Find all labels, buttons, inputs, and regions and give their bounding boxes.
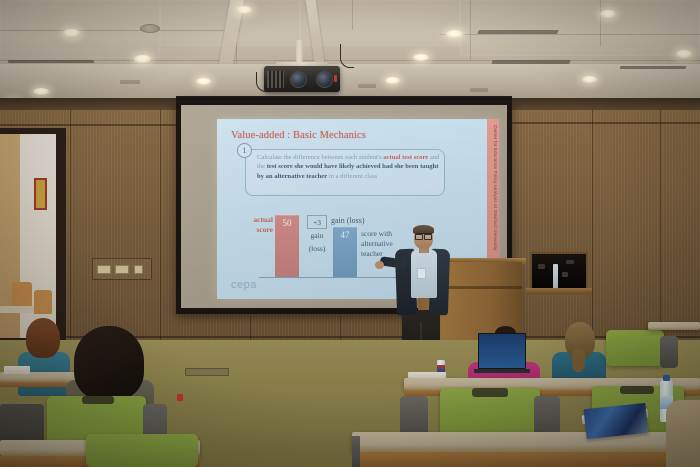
av-equipment-niche (530, 252, 588, 290)
downlight (582, 76, 597, 83)
callout-emphasis-bold-2: an alternative teacher (266, 173, 328, 180)
downlight (446, 30, 463, 38)
chair-green-foreground[interactable] (86, 434, 198, 467)
projector-vent-grille (267, 71, 284, 88)
alt-line1: score with (361, 229, 392, 238)
bar-value-alternative: 47 (333, 230, 357, 240)
downlight (385, 77, 400, 84)
ceiling-vent-left (8, 60, 95, 63)
attendee-foreground-body (666, 400, 700, 467)
projector (264, 66, 340, 92)
chair-backrest-notch (82, 396, 114, 404)
wall-panel-seam (592, 110, 593, 342)
chair-backrest-notch (620, 386, 654, 394)
light-switch[interactable] (97, 265, 111, 274)
callout-line-1: Calculate the difference between each st… (257, 154, 382, 161)
callout-tail: in a different class (327, 173, 377, 180)
alt-line2: alternative (361, 239, 393, 248)
slide-sidebar-text: Center for Education Policy Analysis at … (488, 125, 498, 275)
desk-far-right (648, 322, 700, 330)
wall-panel-seam (250, 316, 251, 342)
gain-label: gain (loss) (331, 216, 365, 225)
ceiling-vent (491, 60, 570, 64)
lecture-hall-photo: Value-added : Basic Mechanics 1 Calculat… (0, 0, 700, 467)
framed-artwork (34, 178, 47, 210)
ceiling (0, 0, 700, 104)
alt-line3: teacher (361, 249, 383, 258)
ceiling-air-diffuser (358, 84, 376, 88)
chair-green-right-back[interactable] (606, 330, 664, 366)
desk-foreground (352, 432, 700, 452)
light-switch[interactable] (115, 265, 129, 274)
downlight (63, 29, 80, 37)
slide-title: Value-added : Basic Mechanics (231, 130, 366, 141)
ceiling-vent (620, 66, 687, 69)
downlight (413, 54, 429, 61)
papers-right[interactable] (408, 372, 446, 378)
downlight (236, 6, 252, 14)
bar-alternative-score: 47 (333, 227, 357, 277)
light-switch[interactable] (134, 265, 143, 274)
projector-lens (290, 71, 307, 88)
wall-seam (512, 122, 700, 124)
downlight (134, 55, 151, 63)
chart-label-actual-line2: score (256, 225, 273, 234)
downlight (676, 50, 692, 58)
ceiling-vent (477, 30, 559, 34)
ceiling-speaker (140, 24, 160, 33)
wall-panel-seam (660, 110, 661, 342)
cepa-logo: cepa (231, 279, 257, 291)
bottle-cap (663, 375, 670, 381)
niche-device (562, 272, 568, 277)
projector-indicator-light (334, 75, 337, 82)
wall-panel-seam (340, 316, 341, 342)
downlight (600, 10, 616, 18)
laptop-screen[interactable] (478, 333, 526, 369)
niche-device (538, 264, 545, 269)
downlight (33, 88, 49, 95)
water-bottle-niche[interactable] (553, 264, 558, 288)
niche-shelf (526, 288, 592, 294)
projector-cable (340, 44, 354, 68)
bar-value-actual: 50 (275, 218, 299, 228)
floor-cable-plate (185, 368, 229, 376)
gain-value-box: +3 gain (loss) (307, 215, 327, 229)
attendee-head-hair (74, 326, 144, 400)
bar-actual-score: 50 (275, 215, 299, 277)
hallway-table (0, 306, 34, 313)
callout-emphasis-red: actual test score (383, 154, 428, 161)
presenter-hand (375, 261, 384, 269)
attendee-ponytail (572, 348, 585, 372)
ceiling-air-diffuser (470, 88, 488, 92)
wall-panel-seam (160, 110, 161, 342)
hallway-chair (12, 282, 32, 308)
downlight (196, 78, 211, 85)
desk-modesty-panel (352, 436, 360, 467)
floor-marker (177, 394, 183, 401)
chart-label-actual-line1: actual (253, 215, 273, 224)
callout-text: Calculate the difference between each st… (257, 153, 443, 181)
wall-seam (0, 124, 176, 126)
chair-armrest-right (660, 336, 678, 368)
niche-device (566, 260, 574, 264)
papers-left[interactable] (4, 366, 30, 374)
chart-label-actual-score: actual score (231, 215, 273, 235)
open-doorway[interactable] (0, 134, 56, 338)
attendee-head (26, 318, 60, 358)
chair-backrest-notch (472, 388, 508, 397)
presenter-name-badge (417, 268, 426, 279)
hallway-chair (34, 290, 52, 314)
desk-edge-foreground (352, 452, 700, 467)
projector-lens-secondary (316, 71, 333, 88)
step-number-badge: 1 (237, 143, 252, 158)
eyeglasses-icon (415, 233, 432, 237)
wall-panel-seam (70, 110, 71, 342)
laptop-base[interactable] (474, 369, 530, 373)
light-switch-plate[interactable] (92, 258, 152, 280)
ceiling-air-diffuser (120, 80, 140, 84)
